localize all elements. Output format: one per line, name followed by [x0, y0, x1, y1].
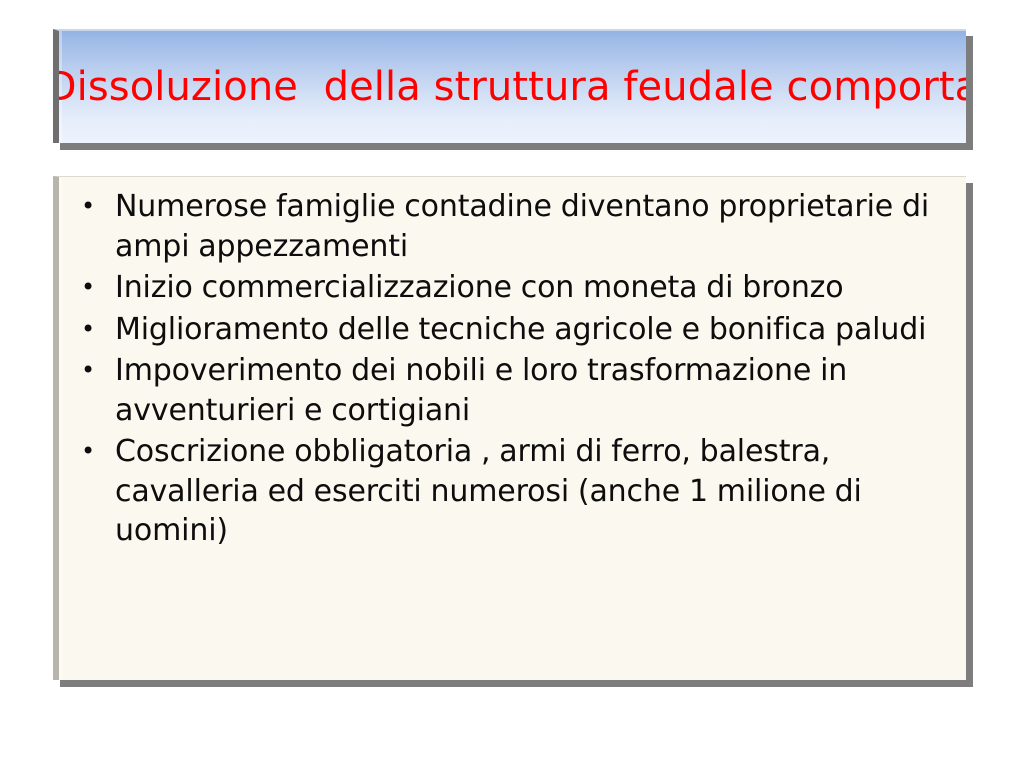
list-item-text: Miglioramento delle tecniche agricole e … — [115, 310, 960, 350]
list-item-text: Coscrizione obbligatoria , armi di ferro… — [115, 432, 960, 551]
page-title: Dissoluzione della struttura feudale com… — [53, 65, 966, 109]
content-placeholder[interactable]: • Numerose famiglie contadine diventano … — [53, 176, 966, 680]
bullet-dot-icon: • — [81, 351, 95, 391]
list-item[interactable]: • Miglioramento delle tecniche agricole … — [67, 310, 960, 350]
list-item-text: Impoverimento dei nobili e loro trasform… — [115, 351, 960, 430]
slide: Dissoluzione della struttura feudale com… — [0, 0, 1024, 768]
list-item-text: Numerose famiglie contadine diventano pr… — [115, 187, 960, 266]
list-item[interactable]: • Numerose famiglie contadine diventano … — [67, 187, 960, 266]
bullet-dot-icon: • — [81, 268, 95, 308]
bullet-dot-icon: • — [81, 187, 95, 227]
list-item[interactable]: • Coscrizione obbligatoria , armi di fer… — [67, 432, 960, 551]
title-placeholder[interactable]: Dissoluzione della struttura feudale com… — [53, 29, 966, 143]
list-item[interactable]: • Impoverimento dei nobili e loro trasfo… — [67, 351, 960, 430]
bullet-dot-icon: • — [81, 310, 95, 350]
list-item-text: Inizio commercializzazione con moneta di… — [115, 268, 960, 308]
bullet-list: • Numerose famiglie contadine diventano … — [67, 187, 960, 551]
list-item[interactable]: • Inizio commercializzazione con moneta … — [67, 268, 960, 308]
bullet-dot-icon: • — [81, 432, 95, 472]
